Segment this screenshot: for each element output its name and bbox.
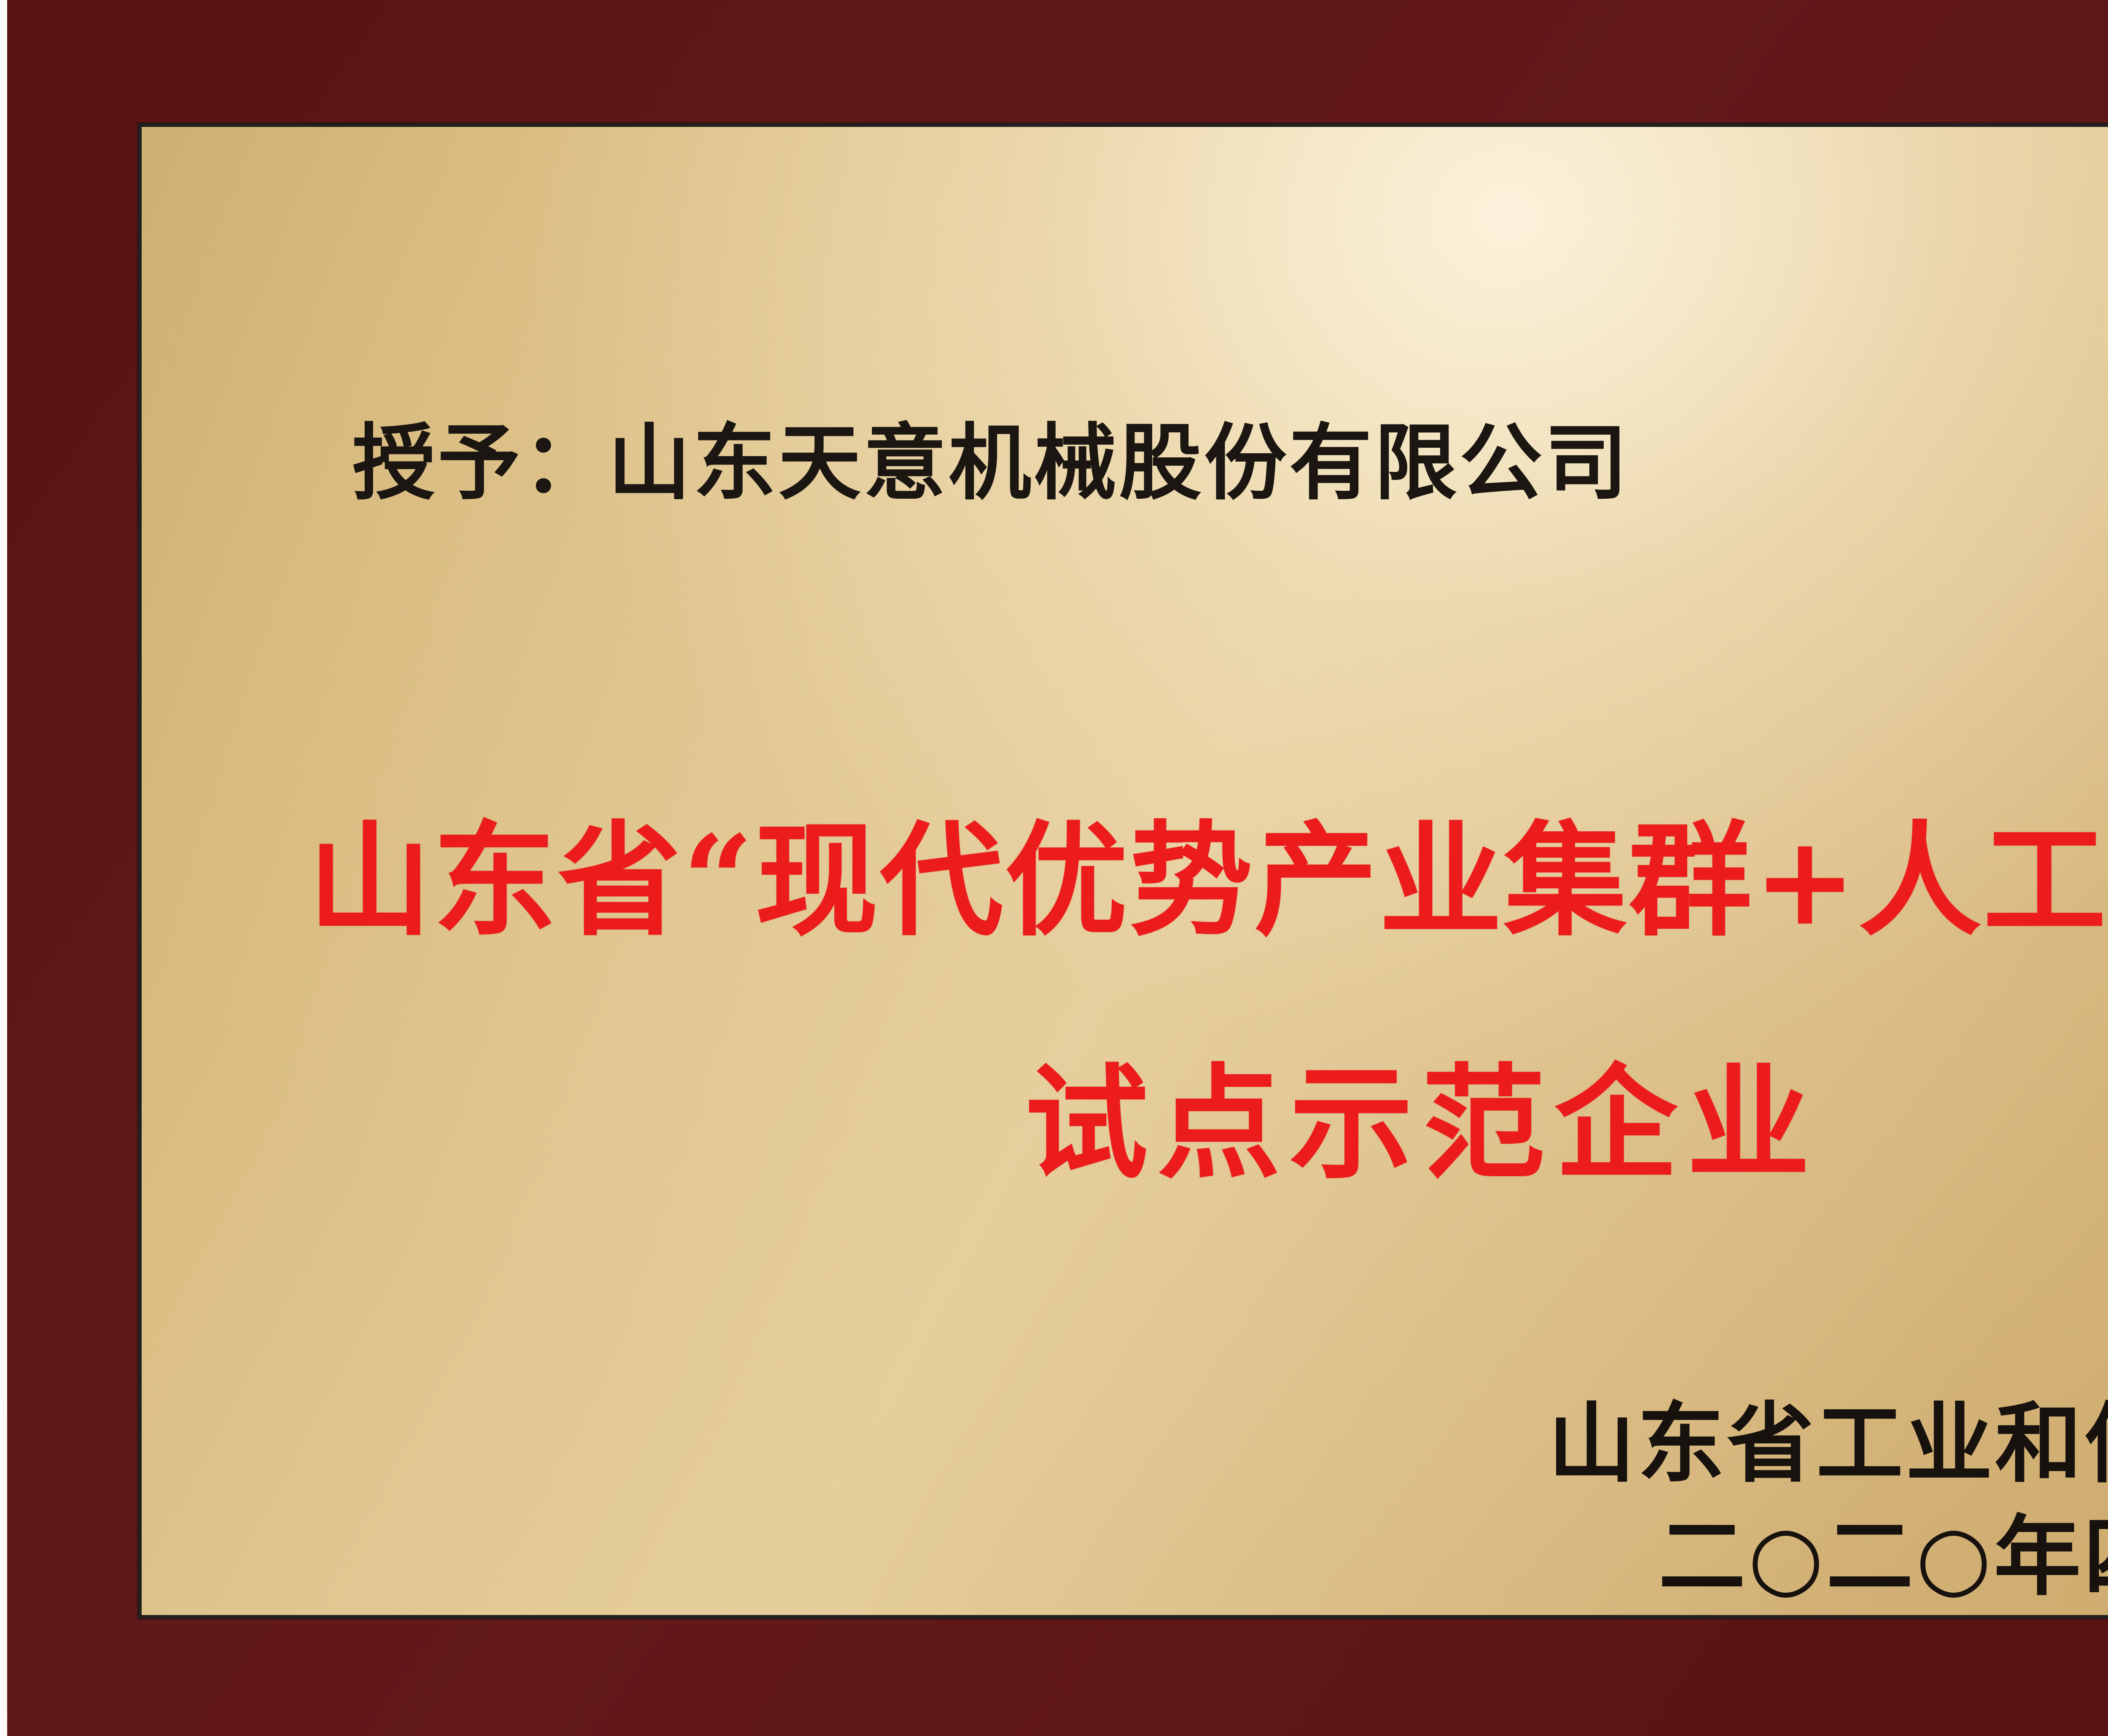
award-plaque-photo: 授予：山东天意机械股份有限公司 山东省“现代优势产业集群+人工智能” 试点示范企…	[0, 0, 2108, 1736]
award-title-line-2: 试点示范企业	[1025, 1062, 1819, 1185]
issue-date: 二○二○年四月	[1659, 1513, 2108, 1600]
plaque-inscription: 授予：山东天意机械股份有限公司 山东省“现代优势产业集群+人工智能” 试点示范企…	[142, 127, 2108, 1615]
award-recipient-line: 授予：山东天意机械股份有限公司	[352, 422, 1630, 505]
issuing-authority: 山东省工业和信息化部	[1548, 1400, 2108, 1487]
award-title-line-1: 山东省“现代优势产业集群+人工智能”	[308, 819, 2108, 942]
plaque-bevel-border: 授予：山东天意机械股份有限公司 山东省“现代优势产业集群+人工智能” 试点示范企…	[138, 123, 2108, 1619]
plaque-gold-face: 授予：山东天意机械股份有限公司 山东省“现代优势产业集群+人工智能” 试点示范企…	[142, 127, 2108, 1615]
plaque-outer-frame: 授予：山东天意机械股份有限公司 山东省“现代优势产业集群+人工智能” 试点示范企…	[7, 0, 2108, 1736]
